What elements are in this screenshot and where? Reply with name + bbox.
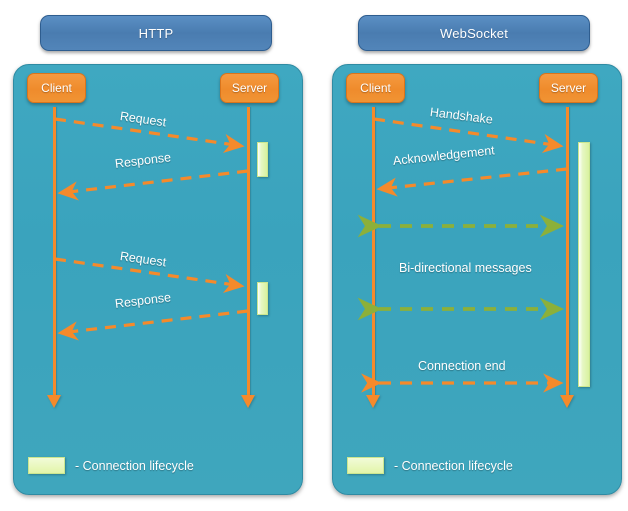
http-message-label-request-2: Request	[119, 249, 167, 269]
http-title-label: HTTP	[139, 26, 174, 41]
diagram-canvas: HTTP WebSocket	[0, 0, 628, 511]
websocket-legend-label: - Connection lifecycle	[394, 459, 513, 473]
websocket-actor-client[interactable]: Client	[346, 73, 405, 103]
websocket-actor-client-label: Client	[360, 81, 391, 95]
websocket-actor-server-label: Server	[551, 81, 586, 95]
websocket-client-lifeline	[372, 107, 375, 399]
http-actor-client[interactable]: Client	[27, 73, 86, 103]
http-legend-label: - Connection lifecycle	[75, 459, 194, 473]
websocket-message-label-connection-end: Connection end	[418, 359, 506, 373]
http-title-box: HTTP	[40, 15, 272, 51]
websocket-message-label-handshake: Handshake	[429, 105, 493, 127]
http-client-lifeline-arrowhead	[47, 395, 61, 408]
websocket-server-lifeline-arrowhead	[560, 395, 574, 408]
http-message-label-response-1: Response	[114, 150, 172, 171]
websocket-message-label-bidirectional: Bi-directional messages	[399, 261, 532, 275]
websocket-lifecycle-bar-1	[578, 142, 590, 387]
http-server-lifeline	[247, 107, 250, 399]
http-legend: - Connection lifecycle	[28, 457, 194, 474]
websocket-title-box: WebSocket	[358, 15, 590, 51]
websocket-actor-server[interactable]: Server	[539, 73, 598, 103]
http-actor-client-label: Client	[41, 81, 72, 95]
http-panel: Client Server Request Response Request R…	[13, 64, 303, 495]
websocket-message-label-acknowledgement: Acknowledgement	[392, 143, 495, 168]
http-message-label-request-1: Request	[119, 109, 167, 129]
http-actor-server-label: Server	[232, 81, 267, 95]
websocket-legend: - Connection lifecycle	[347, 457, 513, 474]
websocket-server-lifeline	[566, 107, 569, 399]
http-lifecycle-bar-1	[257, 142, 268, 177]
http-server-lifeline-arrowhead	[241, 395, 255, 408]
websocket-client-lifeline-arrowhead	[366, 395, 380, 408]
http-message-label-response-2: Response	[114, 290, 172, 311]
http-actor-server[interactable]: Server	[220, 73, 279, 103]
http-client-lifeline	[53, 107, 56, 399]
http-legend-swatch	[28, 457, 65, 474]
http-arrow-layer	[14, 65, 302, 494]
websocket-panel: Client Server Handshake Acknowledgement …	[332, 64, 622, 495]
http-lifecycle-bar-2	[257, 282, 268, 315]
websocket-title-label: WebSocket	[440, 26, 508, 41]
websocket-legend-swatch	[347, 457, 384, 474]
